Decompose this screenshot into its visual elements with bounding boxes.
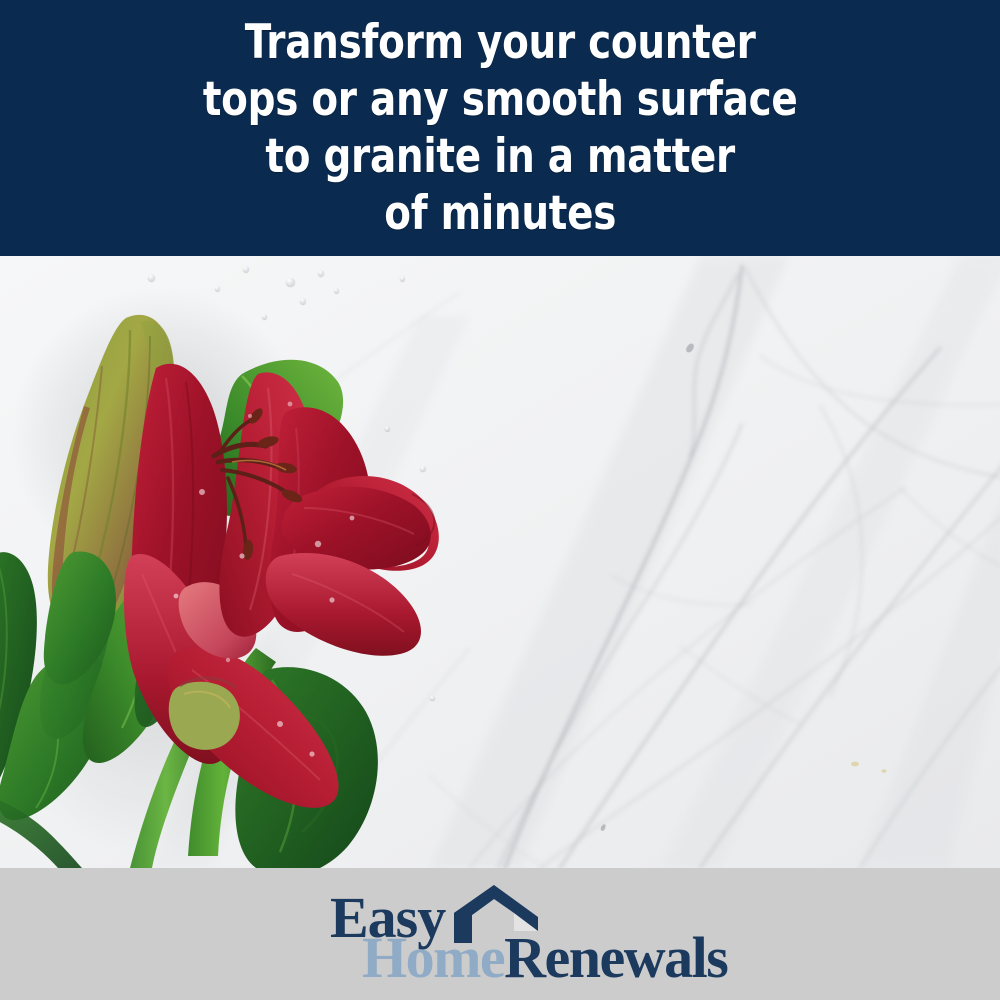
headline-line-2: tops or any smooth surface [203, 71, 798, 128]
headline-line-3: to granite in a matter [203, 128, 798, 185]
logo-word-home: Home [362, 925, 504, 990]
logo-word-renewals: Renewals [504, 925, 727, 990]
lily-flower-graphic [0, 256, 500, 868]
headline-line-1: Transform your counter [203, 14, 798, 71]
headline-line-4: of minutes [203, 185, 798, 242]
promotional-graphic: Transform your counter tops or any smoot… [0, 0, 1000, 1000]
headline-text: Transform your counter tops or any smoot… [166, 14, 834, 242]
logo-word-homerenewals: HomeRenewals [362, 929, 727, 987]
product-photo [0, 256, 1000, 868]
headline-banner: Transform your counter tops or any smoot… [0, 0, 1000, 256]
footer-bar: Easy HomeRenewals [0, 868, 1000, 1000]
brand-logo[interactable]: Easy HomeRenewals [300, 881, 700, 991]
